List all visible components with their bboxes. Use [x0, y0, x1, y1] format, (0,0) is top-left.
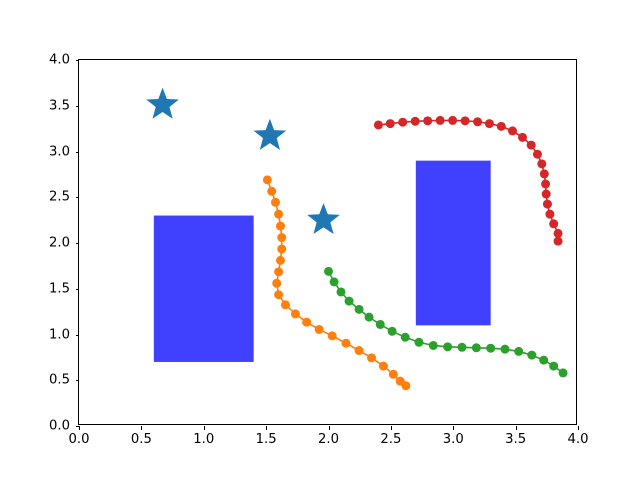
y-tick-label: 3.5	[49, 98, 70, 113]
y-tick-label: 0.5	[49, 373, 70, 388]
goal-star-marker	[254, 119, 287, 150]
x-tick	[578, 426, 579, 430]
y-tick	[76, 380, 80, 381]
y-tick-label: 4.0	[49, 53, 70, 68]
x-tick	[516, 426, 517, 430]
y-tick-label: 1.0	[49, 327, 70, 342]
y-tick	[76, 152, 80, 153]
x-tick	[453, 426, 454, 430]
x-tick-label: 4.0	[568, 432, 589, 447]
x-tick	[266, 426, 267, 430]
goal-star-marker	[307, 203, 340, 234]
x-tick-label: 3.0	[443, 432, 464, 447]
plot-area	[79, 60, 576, 424]
y-tick-label: 2.5	[49, 190, 70, 205]
x-tick-label: 0.5	[131, 432, 152, 447]
y-tick	[76, 335, 80, 336]
y-tick	[76, 289, 80, 290]
y-tick-label: 3.0	[49, 144, 70, 159]
y-tick	[76, 60, 80, 61]
x-tick	[141, 426, 142, 430]
goal-star-marker	[146, 88, 179, 119]
x-tick	[391, 426, 392, 430]
x-tick	[329, 426, 330, 430]
x-tick-label: 0.0	[69, 432, 90, 447]
y-tick-label: 0.0	[49, 419, 70, 434]
y-tick	[76, 426, 80, 427]
x-tick-label: 2.5	[380, 432, 401, 447]
plot-axes: 0.00.51.01.52.02.53.03.54.0 0.00.51.01.5…	[78, 59, 577, 425]
x-tick	[79, 426, 80, 430]
x-tick-label: 1.5	[256, 432, 277, 447]
x-tick-label: 1.0	[193, 432, 214, 447]
y-tick	[76, 243, 80, 244]
y-tick	[76, 106, 80, 107]
goal-markers-layer	[79, 60, 578, 426]
x-tick	[204, 426, 205, 430]
y-tick-label: 2.0	[49, 236, 70, 251]
matplotlib-figure: 0.00.51.01.52.02.53.03.54.0 0.00.51.01.5…	[0, 0, 640, 480]
y-tick-label: 1.5	[49, 281, 70, 296]
x-tick-label: 3.5	[505, 432, 526, 447]
x-tick-label: 2.0	[318, 432, 339, 447]
y-tick	[76, 197, 80, 198]
